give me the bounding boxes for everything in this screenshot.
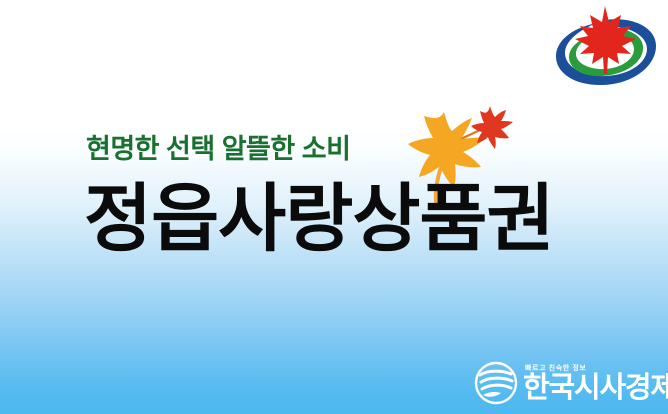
press-name-text: 한국시사경제 (523, 374, 668, 403)
press-logo-text: 빠르고 친숙한 정보 한국시사경제 (523, 363, 668, 403)
small-maple-leaf-icon (471, 106, 513, 149)
press-wave-mark-icon (474, 361, 518, 405)
promo-banner: 현명한 선택 알뜰한 소비 정읍사랑상품권 (0, 0, 668, 414)
leaf-twig-icon (458, 128, 484, 140)
tagline-text: 현명한 선택 알뜰한 소비 (86, 136, 350, 163)
press-logo: 빠르고 친숙한 정보 한국시사경제 (474, 358, 660, 408)
gift-certificate-wordmark: 정읍사랑상품권 (84, 182, 554, 256)
press-kicker-text: 빠르고 친숙한 정보 (525, 363, 668, 373)
gift-certificate-lockup: 현명한 선택 알뜰한 소비 정읍사랑상품권 (0, 0, 668, 414)
